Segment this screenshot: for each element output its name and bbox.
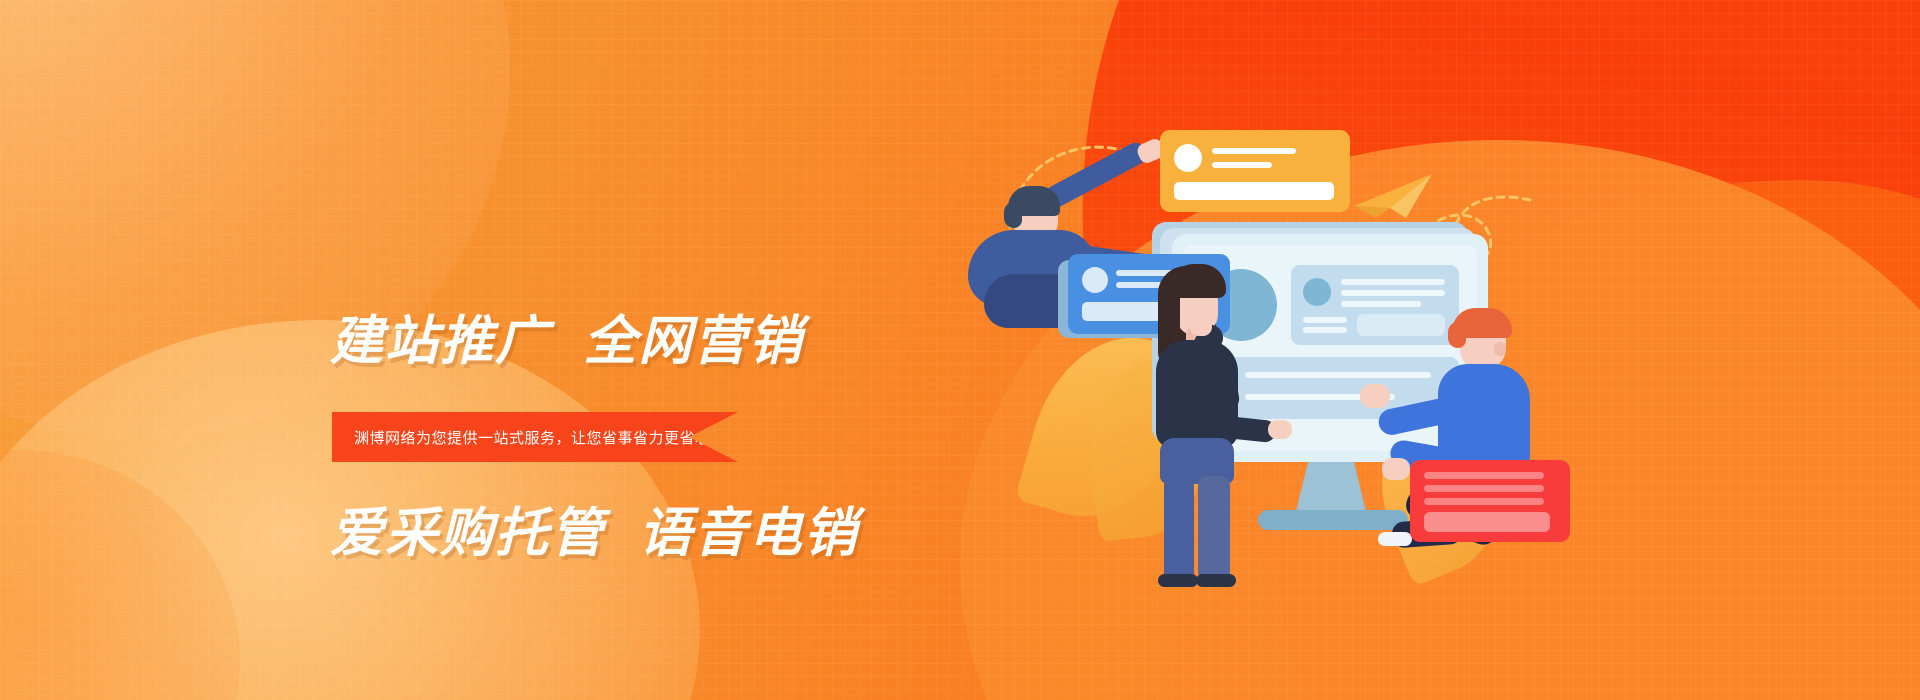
person-man-right — [1376, 306, 1576, 596]
card-text-line — [1424, 498, 1544, 505]
monitor-stand-neck — [1295, 462, 1367, 516]
amber-profile-card — [1160, 130, 1350, 212]
decorative-circle-bottom-left-small — [0, 450, 240, 700]
card-text-line — [1424, 472, 1544, 479]
side-card-line — [1341, 279, 1445, 285]
card-input-block — [1174, 182, 1334, 200]
person-woman-left — [1132, 262, 1282, 592]
hero-illustration — [1080, 110, 1720, 590]
card-text-line — [1424, 485, 1544, 492]
card-avatar — [1174, 144, 1202, 172]
subtitle-text: 渊博网络为您提供一站式服务，让您省事省力更省心 — [332, 427, 711, 448]
card-text-line — [1212, 162, 1272, 168]
side-card-short-line — [1303, 327, 1347, 333]
promotional-banner: 建站推广 全网营销 爱采购托管 语音电销 渊博网络为您提供一站式服务，让您省事省… — [0, 0, 1920, 700]
side-card-avatar — [1303, 278, 1331, 306]
card-text-line — [1212, 148, 1296, 154]
card-input-block — [1424, 512, 1550, 532]
side-card-line — [1341, 290, 1445, 296]
headline-line-2: 爱采购托管 语音电销 — [330, 504, 950, 564]
card-avatar — [1082, 267, 1108, 293]
subtitle-ribbon: 渊博网络为您提供一站式服务，让您省事省力更省心 — [332, 412, 738, 462]
red-profile-card — [1410, 460, 1570, 542]
headline-line-1: 建站推广 全网营销 — [330, 312, 950, 372]
side-card-short-line — [1303, 317, 1347, 323]
